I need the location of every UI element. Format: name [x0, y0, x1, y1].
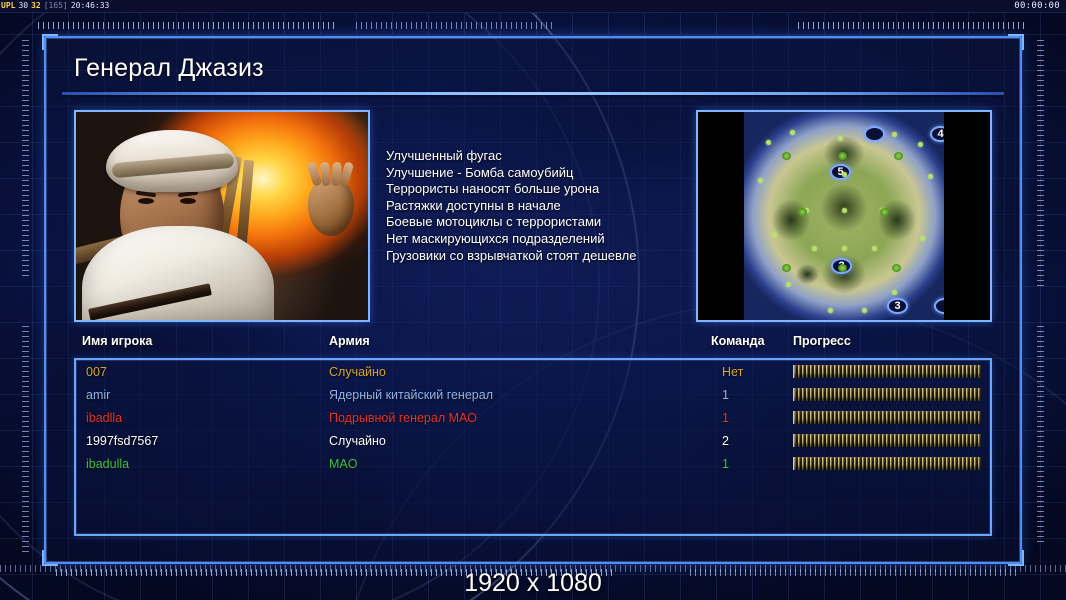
map-terrain-patch	[892, 264, 901, 272]
player-team: 1	[722, 411, 729, 425]
ruler-tick-top-mid	[356, 22, 556, 29]
map-preview-inner: 45213	[698, 112, 990, 320]
portrait-eye-left	[138, 198, 154, 204]
window-corner-bottom-left	[42, 550, 58, 566]
resolution-label: 1920 x 1080	[464, 569, 602, 597]
player-army: Случайно	[329, 434, 386, 448]
map-foliage-marker	[790, 130, 795, 135]
game-lobby-screen: UPL 30 32 [165] 20:46:33 00:00:00 Генера…	[0, 0, 1066, 600]
map-foliage-marker	[842, 246, 847, 251]
main-dialog-window: Генерал Джазиз	[44, 36, 1022, 564]
player-name: 1997fsd7567	[86, 434, 158, 448]
player-name: ibadlla	[86, 411, 122, 425]
player-team: 1	[722, 457, 729, 471]
player-progress-fill	[794, 434, 981, 447]
map-foliage-marker	[812, 246, 817, 251]
map-foliage-marker	[758, 178, 763, 183]
ruler-tick-right-upper	[1037, 40, 1044, 290]
hud-value-2: 32	[31, 1, 41, 11]
description-line: Нет маскирующихся подразделений	[386, 231, 704, 248]
player-row[interactable]: ibadllaПодрывной генерал МАО1	[76, 406, 990, 429]
column-header-army: Армия	[329, 334, 370, 348]
hud-value-3: [165]	[44, 1, 68, 11]
ruler-tick-left-upper	[22, 40, 29, 280]
map-foliage-marker	[842, 172, 847, 177]
map-start-position[interactable]: 3	[887, 298, 908, 314]
map-terrain-patch	[894, 152, 903, 160]
hud-stats-group: UPL 30 32 [165] 20:46:33	[1, 1, 109, 11]
map-terrain-patch	[880, 208, 889, 216]
map-preview-panel[interactable]: 45213	[696, 110, 992, 322]
hud-timer: 00:00:00	[1014, 1, 1060, 11]
ruler-tick-top-right	[798, 22, 1028, 29]
map-foliage-marker	[766, 140, 771, 145]
player-name: amir	[86, 388, 110, 402]
player-team: Нет	[722, 365, 743, 379]
player-team: 1	[722, 388, 729, 402]
player-list-header: Имя игрока Армия Команда Прогресс	[74, 334, 992, 355]
map-terrain-patch	[782, 152, 791, 160]
general-description-list: Улучшенный фугас Улучшение - Бомба самоу…	[386, 148, 704, 264]
map-terrain-patch	[838, 152, 847, 160]
window-corner-top-right	[1008, 34, 1024, 50]
player-progress-fill	[794, 388, 981, 401]
player-progress-bar	[793, 457, 981, 470]
portrait-finger-2	[320, 162, 331, 187]
map-start-position[interactable]: 5	[830, 164, 851, 180]
player-row[interactable]: 007СлучайноНет	[76, 360, 990, 383]
map-start-position[interactable]	[864, 126, 885, 142]
window-corner-top-left	[42, 34, 58, 50]
player-progress-bar	[793, 365, 981, 378]
portrait-hand	[308, 178, 354, 236]
upper-content-row: Улучшенный фугас Улучшение - Бомба самоу…	[74, 110, 992, 324]
map-letterbox-right	[944, 112, 990, 320]
portrait-eye-right	[180, 198, 196, 204]
map-letterbox-left	[698, 112, 744, 320]
map-foliage-marker	[828, 308, 833, 313]
ruler-tick-right-lower	[1037, 326, 1044, 546]
player-army: Случайно	[329, 365, 386, 379]
description-line: Террористы наносят больше урона	[386, 181, 704, 198]
column-header-player-name: Имя игрока	[82, 334, 152, 348]
map-foliage-marker	[928, 174, 933, 179]
map-foliage-marker	[838, 136, 843, 141]
player-row[interactable]: ibadullaMAO1	[76, 452, 990, 475]
player-progress-fill	[794, 411, 981, 424]
player-army: Подрывной генерал МАО	[329, 411, 477, 425]
title-bar: Генерал Джазиз	[62, 46, 1004, 90]
top-hud-bar: UPL 30 32 [165] 20:46:33 00:00:00	[0, 0, 1066, 13]
title-divider	[62, 92, 1004, 95]
column-header-progress: Прогресс	[793, 334, 851, 348]
map-foliage-marker	[872, 246, 877, 251]
description-line: Улучшение - Бомба самоубийц	[386, 165, 704, 182]
page-title: Генерал Джазиз	[62, 54, 264, 83]
player-army: Ядерный китайский генерал	[329, 388, 493, 402]
player-progress-bar	[793, 388, 981, 401]
description-line: Растяжки доступны в начале	[386, 198, 704, 215]
player-row[interactable]: amirЯдерный китайский генерал1	[76, 383, 990, 406]
portrait-artwork	[76, 112, 368, 320]
column-header-team: Команда	[711, 334, 765, 348]
description-line: Боевые мотоциклы с террористами	[386, 214, 704, 231]
map-foliage-marker	[862, 308, 867, 313]
player-progress-fill	[794, 365, 981, 378]
hud-clock: 20:46:33	[71, 1, 110, 11]
map-terrain-patch	[782, 264, 791, 272]
player-list-body: 007СлучайноНетamirЯдерный китайский гене…	[74, 358, 992, 536]
map-foliage-marker	[918, 142, 923, 147]
player-progress-bar	[793, 411, 981, 424]
description-line: Улучшенный фугас	[386, 148, 704, 165]
player-team: 2	[722, 434, 729, 448]
general-portrait-panel	[74, 110, 370, 322]
hud-value-1: 30	[18, 1, 28, 11]
map-foliage-marker	[842, 208, 847, 213]
player-row[interactable]: 1997fsd7567Случайно2	[76, 429, 990, 452]
map-foliage-marker	[892, 132, 897, 137]
map-terrain-patch	[798, 208, 807, 216]
map-foliage-marker	[920, 236, 925, 241]
player-progress-bar	[793, 434, 981, 447]
map-terrain-patch	[838, 264, 847, 272]
window-corner-bottom-right	[1008, 550, 1024, 566]
description-line: Грузовики со взрывчаткой стоят дешевле	[386, 248, 704, 265]
map-preview-image: 45213	[742, 112, 946, 320]
ruler-tick-top-left	[38, 22, 338, 29]
player-name: 007	[86, 365, 107, 379]
player-army: MAO	[329, 457, 357, 471]
map-foliage-marker	[772, 232, 777, 237]
map-foliage-marker	[786, 282, 791, 287]
map-foliage-marker	[892, 290, 897, 295]
player-name: ibadulla	[86, 457, 129, 471]
player-list-section: Имя игрока Армия Команда Прогресс 007Слу…	[74, 334, 992, 538]
footer-bar: 1920 x 1080	[0, 569, 1066, 598]
player-progress-fill	[794, 457, 981, 470]
ruler-tick-left-lower	[22, 326, 29, 556]
hud-fps-label: UPL	[1, 1, 15, 11]
